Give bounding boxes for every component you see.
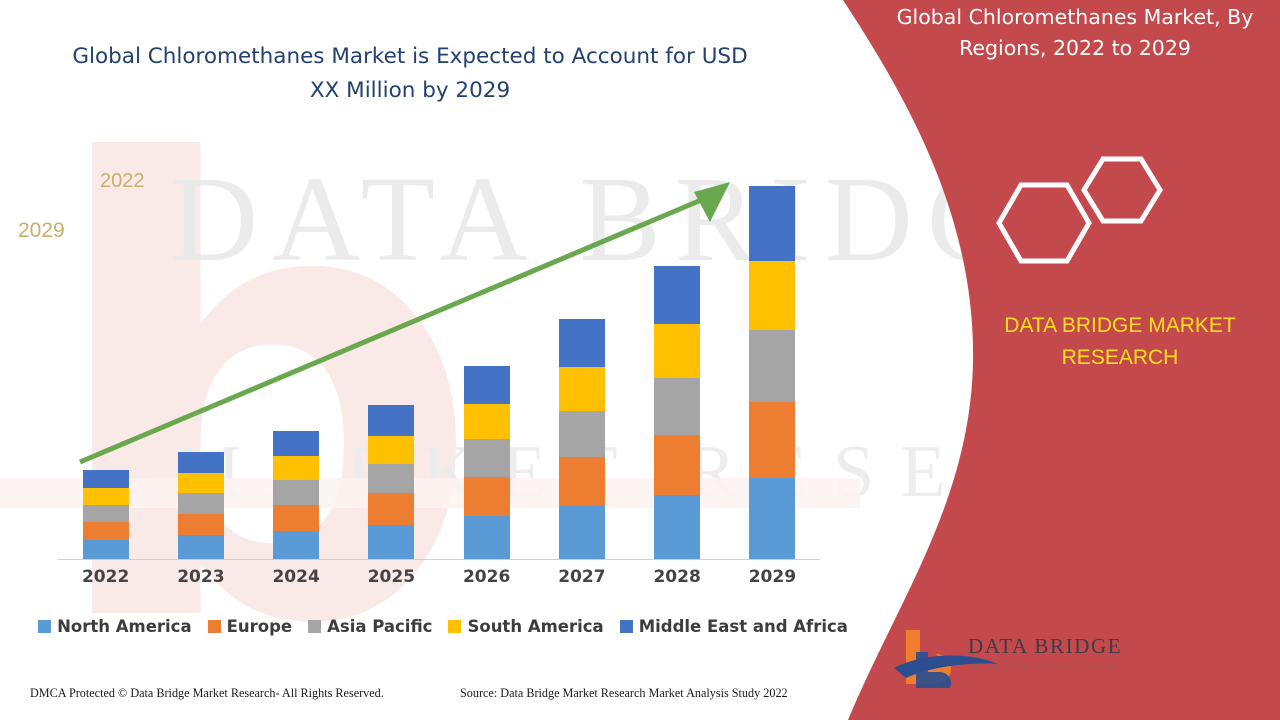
logo-text-primary: DATA BRIDGE: [968, 634, 1122, 659]
x-axis-tick-label: 2026: [439, 567, 534, 587]
hexagon-2029-label: 2029: [18, 219, 65, 243]
x-axis-tick-label: 2024: [249, 567, 344, 587]
legend-label: Europe: [227, 617, 293, 636]
trend-arrow-icon: [58, 160, 820, 560]
hexagon-2022-icon: [1084, 159, 1160, 221]
hexagon-badges: [985, 155, 1185, 290]
legend-swatch-icon: [208, 620, 221, 633]
legend-label: South America: [467, 617, 603, 636]
panel-title: Global Chloromethanes Market, By Regions…: [880, 2, 1270, 64]
legend-swatch-icon: [308, 620, 321, 633]
legend-swatch-icon: [448, 620, 461, 633]
footer-source: Source: Data Bridge Market Research Mark…: [460, 686, 788, 701]
chart-legend: North AmericaEuropeAsia PacificSouth Ame…: [56, 617, 846, 636]
x-axis-tick-label: 2022: [58, 567, 153, 587]
x-axis-tick-label: 2023: [153, 567, 248, 587]
x-axis-labels: 20222023202420252026202720282029: [58, 567, 820, 587]
panel-brand-text: DATA BRIDGE MARKET RESEARCH: [960, 310, 1280, 374]
hexagon-2022-label: 2022: [100, 170, 145, 193]
legend-item[interactable]: Europe: [208, 617, 293, 636]
legend-label: North America: [57, 617, 192, 636]
legend-swatch-icon: [38, 620, 51, 633]
x-axis-tick-label: 2029: [725, 567, 820, 587]
x-axis-tick-label: 2028: [630, 567, 725, 587]
legend-label: Middle East and Africa: [639, 617, 848, 636]
legend-label: Asia Pacific: [327, 617, 432, 636]
legend-item[interactable]: Middle East and Africa: [620, 617, 848, 636]
x-axis-tick-label: 2025: [344, 567, 439, 587]
hexagon-2029-icon: [999, 185, 1089, 261]
x-axis-tick-label: 2027: [534, 567, 629, 587]
legend-swatch-icon: [620, 620, 633, 633]
chart-title: Global Chloromethanes Market is Expected…: [60, 40, 760, 108]
legend-item[interactable]: South America: [448, 617, 603, 636]
logo-text-secondary: MARKET RESEARCH: [970, 662, 1116, 672]
legend-item[interactable]: North America: [38, 617, 192, 636]
footer-copyright: DMCA Protected © Data Bridge Market Rese…: [30, 686, 384, 701]
slide-canvas: b DATA BRIDGE MARKET RESEARCH Global Chl…: [0, 0, 1280, 720]
legend-item[interactable]: Asia Pacific: [308, 617, 432, 636]
